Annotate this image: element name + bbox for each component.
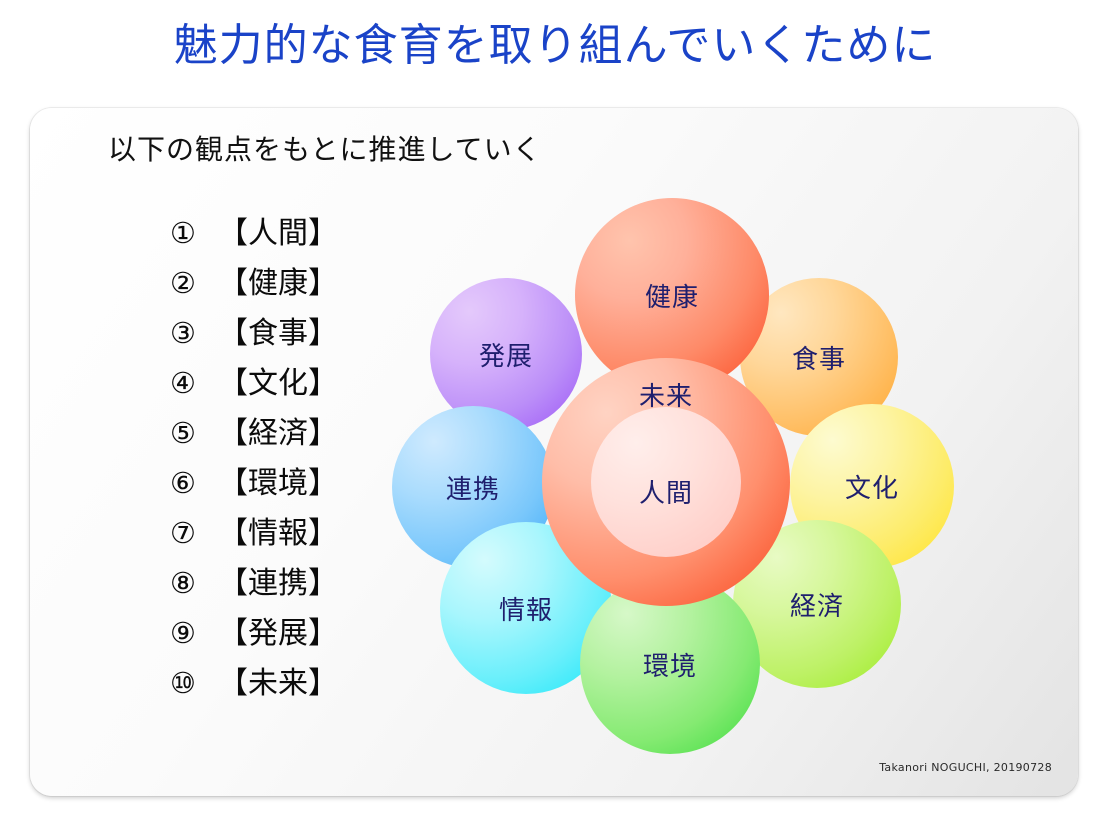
bubble-label-renkei: 連携	[446, 469, 500, 506]
bubble-label-shokuji: 食事	[792, 339, 846, 376]
bubble-label-keizai: 経済	[790, 586, 844, 623]
bubble-ningen: 人間	[591, 407, 741, 557]
footer-credit: Takanori NOGUCHI, 20190728	[879, 761, 1052, 774]
content-panel: 以下の観点をもとに推進していく ① 【人間】 ② 【健康】 ③ 【食事】 ④ 【…	[30, 108, 1078, 796]
bubble-label-bunka: 文化	[845, 468, 899, 505]
bubble-label-kenko: 健康	[645, 277, 699, 314]
bubble-label-kankyo: 環境	[643, 646, 697, 683]
bubble-hatten: 発展	[430, 278, 582, 430]
bubble-label-hatten: 発展	[479, 336, 533, 373]
page-title: 魅力的な食育を取り組んでいくために	[0, 22, 1110, 70]
bubble-diagram: 発展 食事 連携 文化 情報 経済 健康 環境 未来 人間	[30, 108, 1078, 796]
bubble-mirai: 未来 人間	[542, 358, 790, 606]
bubble-label-joho: 情報	[499, 590, 553, 627]
bubble-label-ningen: 人間	[639, 473, 693, 510]
